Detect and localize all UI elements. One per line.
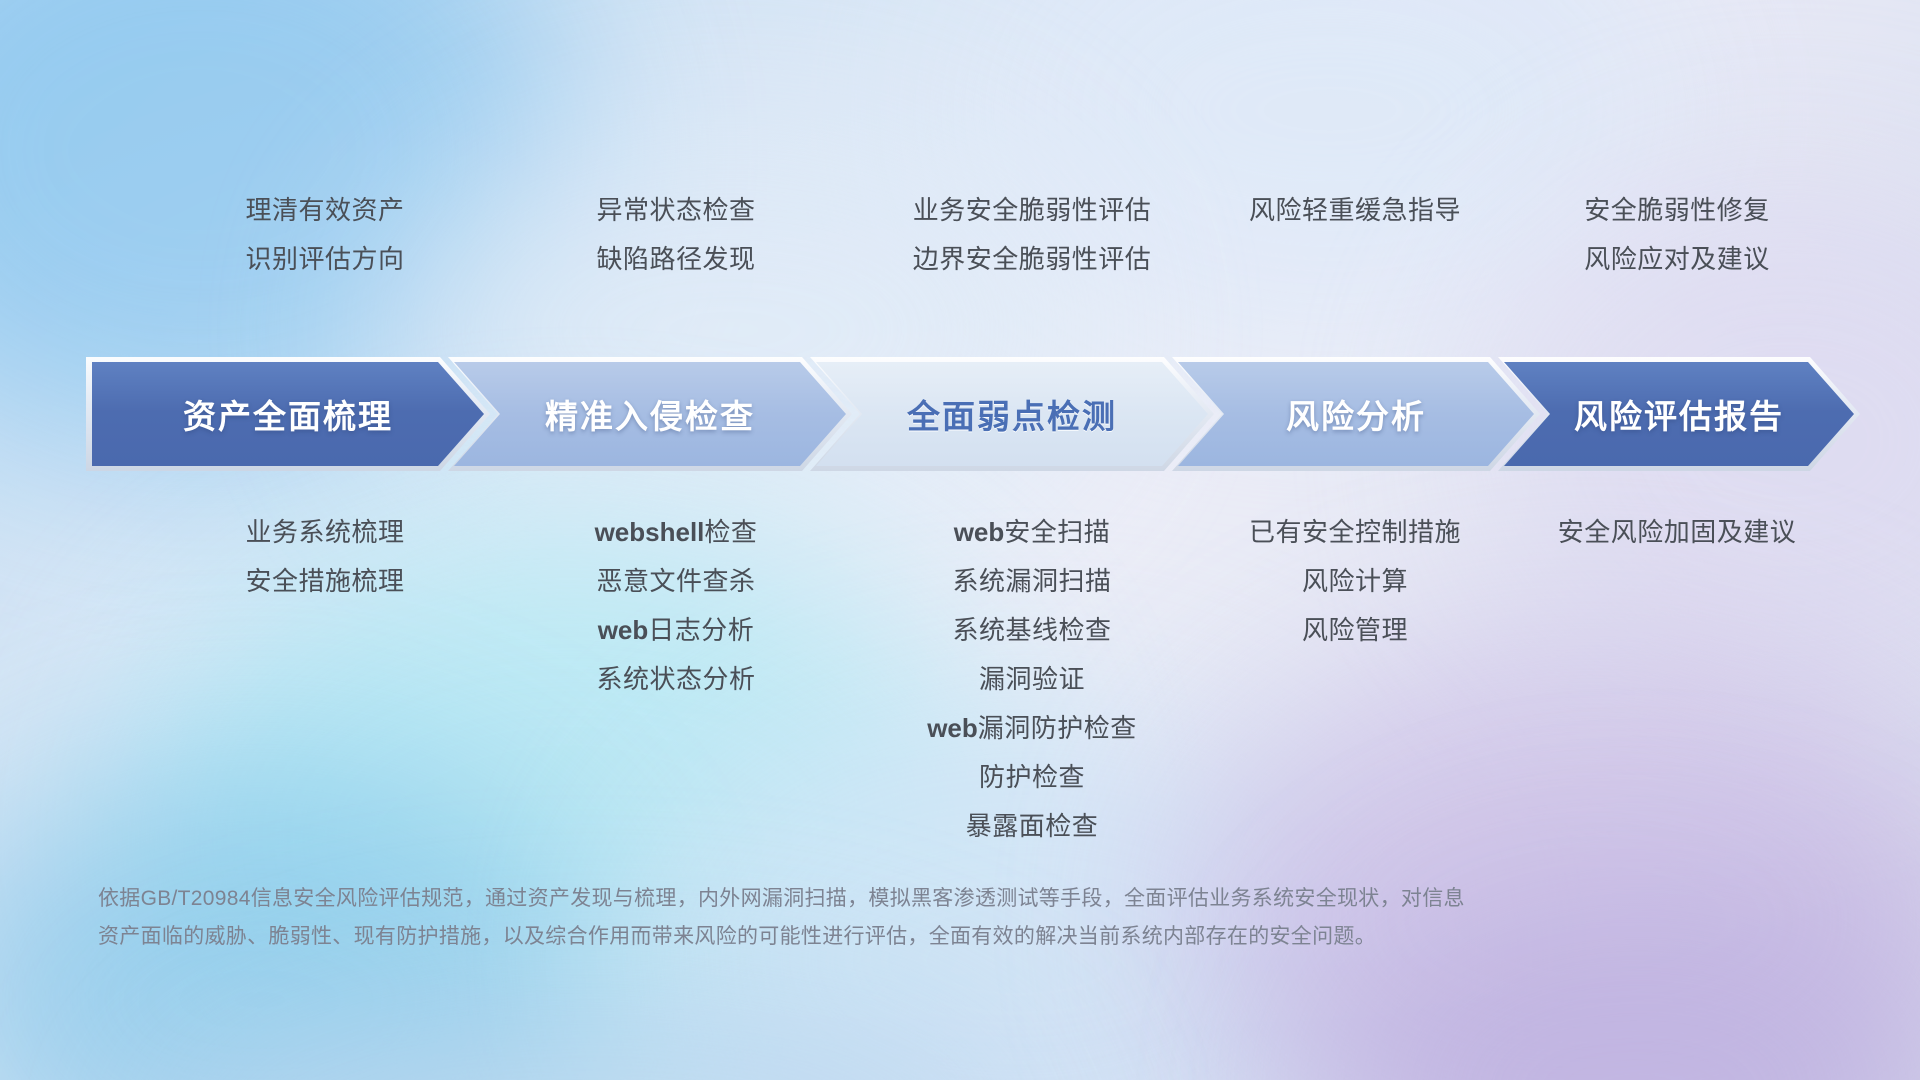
stage-chevron-weakness-detection[interactable]: 全面弱点检测 [816,362,1208,466]
top-item: 风险应对及建议 [1584,235,1770,284]
top-item: 边界安全脆弱性评估 [913,235,1152,284]
top-group-assessment-report: 安全脆弱性修复风险应对及建议 [1377,186,1920,284]
bottom-item: web漏洞防护检查 [927,704,1137,753]
bottom-item-latin: web [954,517,1005,547]
stage-chevron-risk-analysis[interactable]: 风险分析 [1178,362,1534,466]
stage-chevron-intrusion-check[interactable]: 精准入侵检查 [454,362,846,466]
footer-description: 依据GB/T20984信息安全风险评估规范，通过资产发现与梳理，内外网漏洞扫描，… [98,880,1658,956]
bottom-item: 风险管理 [1302,606,1408,655]
bottom-item: 安全风险加固及建议 [1558,508,1797,557]
stage-chevron-label-risk-analysis: 风险分析 [1286,390,1426,438]
footer-line-2: 资产面临的威胁、脆弱性、现有防护措施，以及综合作用而带来风险的可能性进行评估，全… [98,918,1658,956]
bottom-group-assessment-report: 安全风险加固及建议 [1377,508,1920,557]
stage-chevron-band: 资产全面梳理精准入侵检查全面弱点检测风险分析风险评估报告 [92,362,1854,466]
top-item: 安全脆弱性修复 [1584,186,1770,235]
process-diagram: 理清有效资产识别评估方向异常状态检查缺陷路径发现业务安全脆弱性评估边界安全脆弱性… [0,0,1920,1080]
stage-chevron-label-intrusion-check: 精准入侵检查 [545,390,755,438]
bottom-item: 防护检查 [979,753,1085,802]
bottom-item: 风险计算 [1302,557,1408,606]
stage-chevron-label-asset-inventory: 资产全面梳理 [183,390,393,438]
bottom-item: 暴露面检查 [966,802,1099,851]
bottom-item-latin: web [598,615,649,645]
footer-line-1: 依据GB/T20984信息安全风险评估规范，通过资产发现与梳理，内外网漏洞扫描，… [98,880,1658,918]
bottom-item: 漏洞验证 [979,655,1085,704]
stage-chevron-label-assessment-report: 风险评估报告 [1574,390,1784,438]
stage-chevron-assessment-report[interactable]: 风险评估报告 [1504,362,1854,466]
bottom-item-latin: webshell [595,517,705,547]
bottom-item: web日志分析 [598,606,755,655]
stage-chevron-asset-inventory[interactable]: 资产全面梳理 [92,362,484,466]
stage-chevron-label-weakness-detection: 全面弱点检测 [907,390,1117,438]
bottom-item-latin: web [927,713,978,743]
